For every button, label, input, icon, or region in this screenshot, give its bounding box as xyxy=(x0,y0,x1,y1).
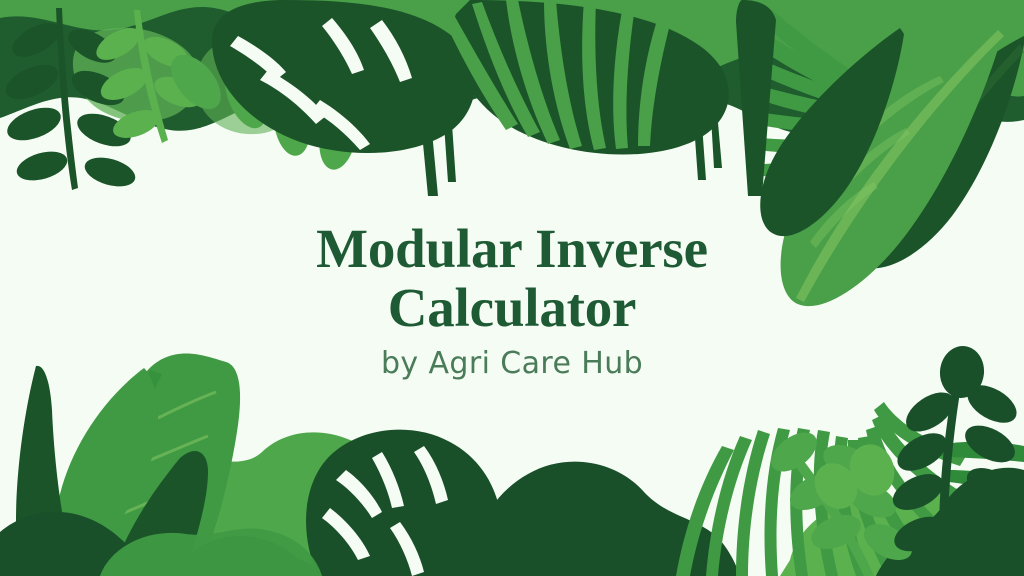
tropical-foliage-background xyxy=(0,0,1024,576)
title-card: Modular Inverse Calculator by Agri Care … xyxy=(0,0,1024,576)
